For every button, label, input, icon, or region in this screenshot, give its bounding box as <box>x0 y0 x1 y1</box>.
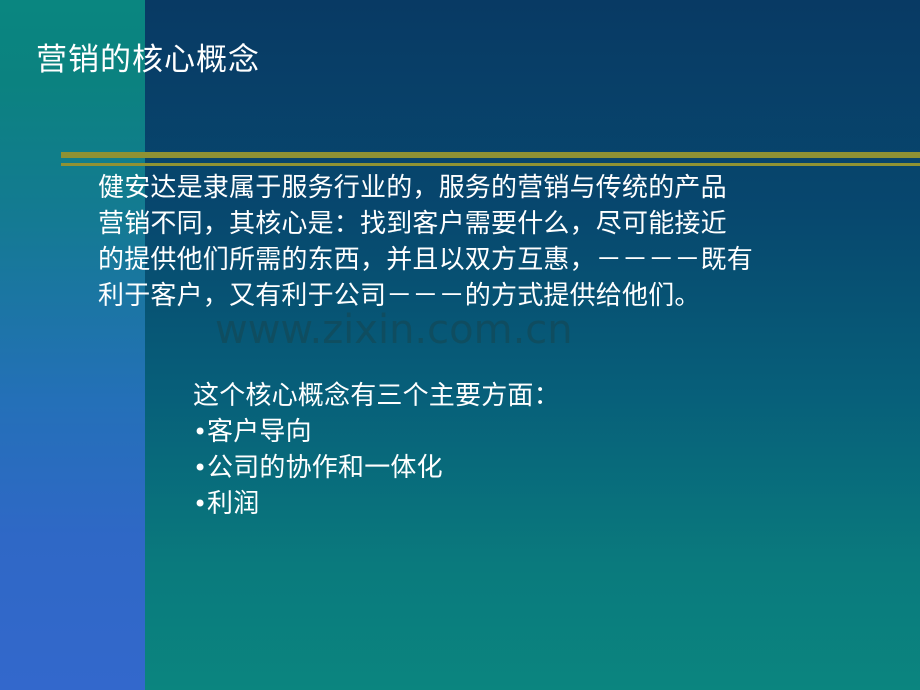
body-paragraph: 健安达是隶属于服务行业的，服务的营销与传统的产品 营销不同，其核心是：找到客户需… <box>98 170 920 314</box>
list-item: •公司的协作和一体化 <box>193 450 833 486</box>
body-list: 这个核心概念有三个主要方面： •客户导向 •公司的协作和一体化 •利润 <box>193 378 833 522</box>
list-lead-text: 这个核心概念有三个主要方面： <box>193 378 833 414</box>
list-item-label: 利润 <box>207 489 259 519</box>
list-item-label: 客户导向 <box>207 417 312 447</box>
bullet-icon: • <box>193 450 207 486</box>
slide-title: 营销的核心概念 <box>36 40 876 80</box>
gold-rule-thin <box>61 163 920 166</box>
paragraph-line: 健安达是隶属于服务行业的，服务的营销与传统的产品 <box>98 170 920 206</box>
paragraph-line: 利于客户，又有利于公司－－－的方式提供给他们。 <box>98 278 920 314</box>
paragraph-line: 营销不同，其核心是：找到客户需要什么，尽可能接近 <box>98 206 920 242</box>
list-item: •客户导向 <box>193 414 833 450</box>
paragraph-line: 的提供他们所需的东西，并且以双方互惠，－－－－既有 <box>98 242 920 278</box>
gold-rule-thick <box>61 152 920 158</box>
slide-background-left-strip <box>0 0 145 690</box>
bullet-icon: • <box>193 486 207 522</box>
bullet-icon: • <box>193 414 207 450</box>
list-item-label: 公司的协作和一体化 <box>207 453 443 483</box>
list-item: •利润 <box>193 486 833 522</box>
presentation-slide: 营销的核心概念 www.zixin.com.cn 健安达是隶属于服务行业的，服务… <box>0 0 920 690</box>
